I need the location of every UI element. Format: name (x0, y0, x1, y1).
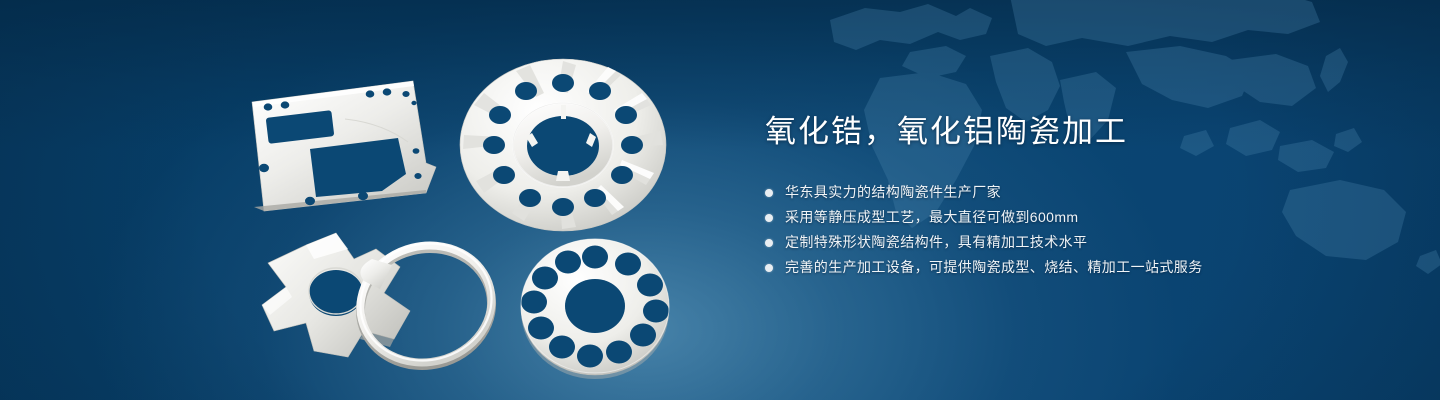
list-item-label: 华东具实力的结构陶瓷件生产厂家 (785, 180, 1001, 205)
feature-list: 华东具实力的结构陶瓷件生产厂家 采用等静压成型工艺，最大直径可做到600mm 定… (765, 180, 1385, 280)
ceramic-impeller-shape (460, 59, 666, 231)
bullet-dot-icon (765, 264, 773, 272)
list-item: 采用等静压成型工艺，最大直径可做到600mm (765, 205, 1385, 230)
ceramic-products-image (230, 45, 700, 375)
ceramic-perforated-disc-shape (521, 239, 669, 379)
ceramic-plate-shape (252, 81, 436, 211)
list-item-label: 完善的生产加工设备，可提供陶瓷成型、烧结、精加工一站式服务 (785, 255, 1203, 280)
banner-text-block: 氧化锆，氧化铝陶瓷加工 华东具实力的结构陶瓷件生产厂家 采用等静压成型工艺，最大… (765, 112, 1385, 280)
list-item: 定制特殊形状陶瓷结构件，具有精加工技术水平 (765, 230, 1385, 255)
bullet-dot-icon (765, 239, 773, 247)
ceramic-cross-shape (262, 233, 410, 357)
page-title: 氧化锆，氧化铝陶瓷加工 (765, 112, 1385, 152)
promo-banner: 氧化锆，氧化铝陶瓷加工 华东具实力的结构陶瓷件生产厂家 采用等静压成型工艺，最大… (0, 0, 1440, 400)
bullet-dot-icon (765, 189, 773, 197)
list-item-label: 采用等静压成型工艺，最大直径可做到600mm (785, 205, 1078, 230)
list-item: 完善的生产加工设备，可提供陶瓷成型、烧结、精加工一站式服务 (765, 255, 1385, 280)
list-item-label: 定制特殊形状陶瓷结构件，具有精加工技术水平 (785, 230, 1087, 255)
list-item: 华东具实力的结构陶瓷件生产厂家 (765, 180, 1385, 205)
bullet-dot-icon (765, 214, 773, 222)
